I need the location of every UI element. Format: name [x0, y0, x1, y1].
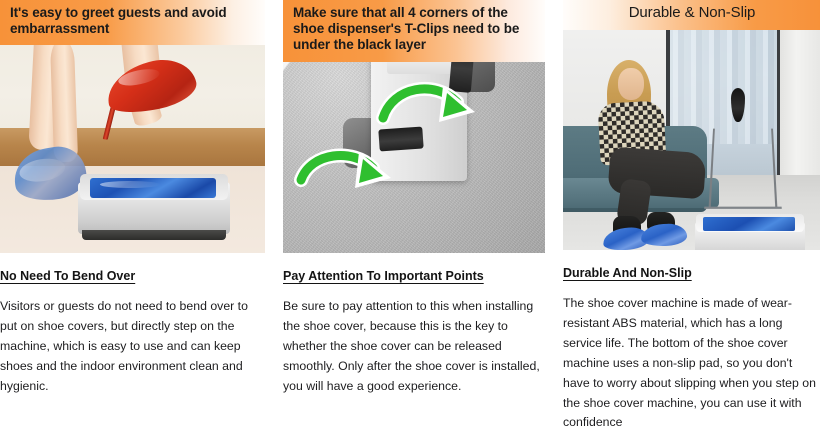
machine-blue-cover-well [703, 217, 795, 231]
banner-caption: It's easy to greet guests and avoid emba… [0, 0, 265, 45]
floor-lamp-stand [709, 129, 778, 207]
woman-face [618, 68, 644, 100]
feature-column-pay-attention-to-important-points: Make sure that all 4 corners of the shoe… [283, 0, 545, 420]
shoe-cover-machine-icon [78, 170, 230, 242]
feature-panels: It's easy to greet guests and avoid emba… [0, 0, 820, 420]
feature-body-text: The shoe cover machine is made of wear-r… [563, 294, 820, 433]
feature-body: Visitors or guests do not need to bend o… [0, 297, 265, 397]
green-curved-arrow-icon-lower [297, 148, 407, 214]
green-curved-arrow-icon-upper [379, 78, 489, 148]
machine-base-pad [82, 230, 226, 240]
leg-back-lower [50, 40, 78, 163]
feature-body: The shoe cover machine is made of wear-r… [563, 294, 820, 433]
feature-title: Pay Attention To Important Points [283, 269, 545, 284]
machine-blue-cover-well [90, 178, 216, 198]
feature-column-no-need-to-bend-over: It's easy to greet guests and avoid emba… [0, 0, 265, 420]
photo-living-room-scene [563, 30, 820, 250]
feature-image-card: It's easy to greet guests and avoid emba… [0, 0, 265, 253]
feature-image-card: Make sure that all 4 corners of the shoe… [283, 0, 545, 253]
feature-title: No Need To Bend Over [0, 269, 265, 284]
banner-caption: Durable & Non-Slip [563, 0, 820, 30]
feature-image-card: Durable & Non-Slip [563, 0, 820, 250]
feature-column-durable-and-non-slip: Durable & Non-Slip Durable And Non-Slip … [563, 0, 820, 420]
curtain [780, 30, 820, 193]
feature-body-text: Be sure to pay attention to this when in… [283, 297, 545, 397]
banner-caption: Make sure that all 4 corners of the shoe… [283, 0, 545, 62]
feature-title: Durable And Non-Slip [563, 266, 820, 281]
feature-body: Be sure to pay attention to this when in… [283, 297, 545, 397]
feature-body-text: Visitors or guests do not need to bend o… [0, 297, 265, 397]
shoe-cover-machine-icon [695, 208, 805, 250]
